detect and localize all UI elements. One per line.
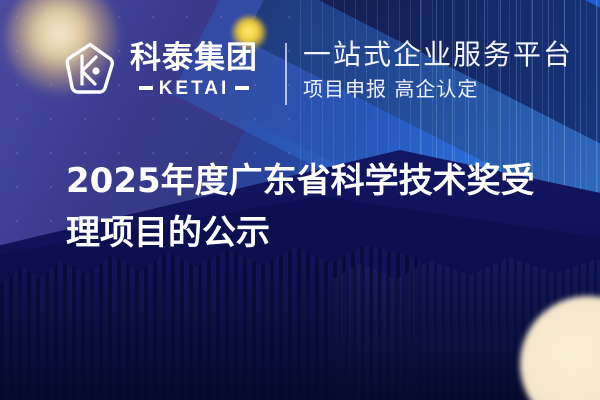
tagline-block: 一站式企业服务平台 项目申报 高企认定 bbox=[303, 40, 573, 100]
brand-name-en: KETAI bbox=[159, 79, 230, 98]
headline-title: 2025年度广东省科学技术奖受理项目的公示 bbox=[66, 156, 556, 259]
brand-name-cn: 科泰集团 bbox=[130, 43, 258, 74]
banner-header: 科泰集团 KETAI 一站式企业服务平台 项目申报 高企认定 bbox=[0, 0, 600, 150]
kp-monogram-icon bbox=[60, 40, 120, 100]
brand-wordmark: 科泰集团 KETAI bbox=[130, 43, 258, 98]
vertical-divider bbox=[285, 43, 287, 105]
decor-bottom-fade bbox=[0, 270, 600, 400]
brand-logo[interactable]: 科泰集团 KETAI bbox=[60, 40, 258, 100]
brand-name-en-row: KETAI bbox=[130, 79, 258, 98]
tagline-sub: 项目申报 高企认定 bbox=[303, 78, 573, 100]
dash-right-icon bbox=[235, 86, 249, 90]
dash-left-icon bbox=[139, 86, 153, 90]
tagline-main: 一站式企业服务平台 bbox=[303, 40, 573, 71]
promo-banner: 科泰集团 KETAI 一站式企业服务平台 项目申报 高企认定 2025年度广东省… bbox=[0, 0, 600, 400]
